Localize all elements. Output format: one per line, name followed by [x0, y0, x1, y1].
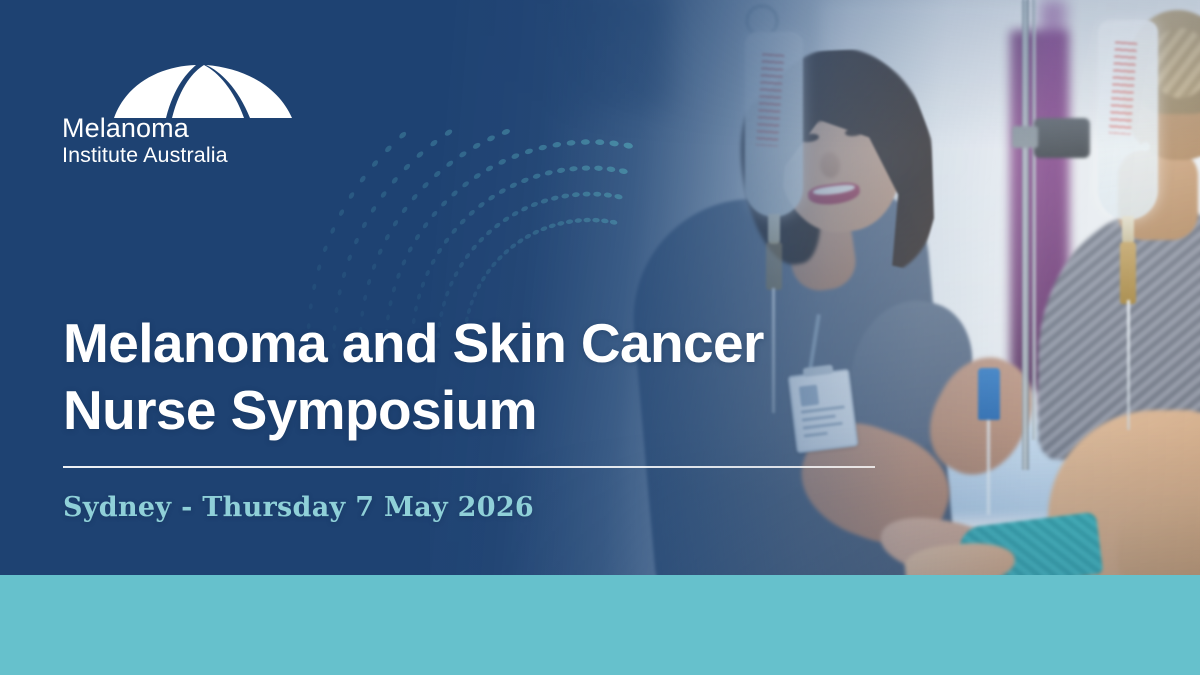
iv-bag-neck [768, 214, 780, 244]
headline-block: Melanoma and Skin CancerNurse Symposium [63, 310, 943, 444]
headline-line-1: Melanoma and Skin Cancer [63, 312, 764, 374]
headline-divider-rule [63, 466, 875, 468]
logo-wordmark: Melanoma Institute Australia [62, 114, 362, 167]
iv-bag [745, 32, 803, 217]
iv-pole [1022, 0, 1029, 470]
page-title: Melanoma and Skin CancerNurse Symposium [63, 310, 943, 444]
iv-bag-label [756, 53, 784, 146]
teal-footer-bar [0, 575, 1200, 675]
arch-dome-icon [108, 62, 362, 120]
event-details: Sydney - Thursday 7 May 2026 [63, 492, 534, 523]
iv-tubing [1127, 300, 1130, 430]
iv-pole-clamp [1034, 118, 1090, 158]
drip-chamber [1120, 242, 1136, 304]
doorway-shadow [560, 0, 670, 110]
melanoma-institute-australia-logo[interactable]: Melanoma Institute Australia [62, 62, 362, 167]
drip-chamber [766, 242, 782, 290]
logo-line-2: Institute Australia [62, 143, 362, 167]
iv-roller-clamp [978, 368, 1000, 420]
iv-bag-neck [1122, 216, 1134, 244]
event-banner: Melanoma Institute Australia Melanoma an… [0, 0, 1200, 675]
iv-bag [1098, 20, 1158, 220]
headline-line-2: Nurse Symposium [63, 379, 537, 441]
iv-bag-label [1109, 41, 1137, 134]
iv-pole-secondary [1032, 0, 1036, 440]
